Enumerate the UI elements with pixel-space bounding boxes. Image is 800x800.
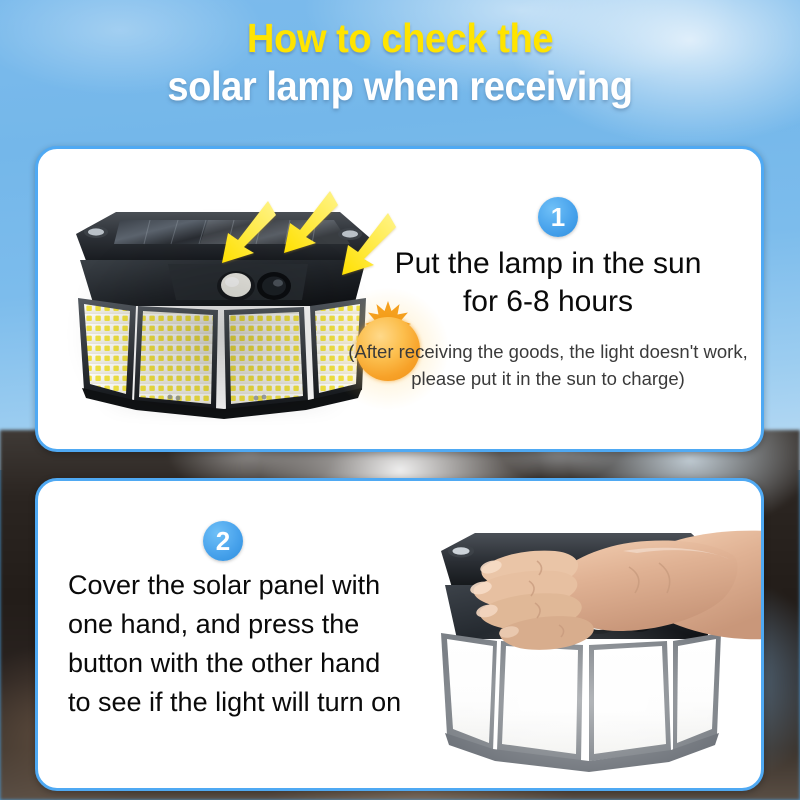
page-title: How to check the solar lamp when receivi… [0,18,800,108]
step-1-subtext: (After receiving the goods, the light do… [338,339,758,393]
step-2-badge: 2 [203,521,243,561]
step-1-panel: 1 Put the lamp in the sun for 6-8 hours … [35,146,764,452]
lamp-svg-lit-with-hand [423,521,761,788]
step-2-heading: Cover the solar panel with one hand, and… [68,566,408,723]
solar-lamp-illustration-step2 [423,521,761,788]
step-1-badge: 1 [538,197,578,237]
step-2-panel: 2 Cover the solar panel with one hand, a… [35,478,764,791]
infographic-stage: How to check the solar lamp when receivi… [0,0,800,800]
title-line-one: How to check the [28,18,772,60]
step-1-panel-inner: 1 Put the lamp in the sun for 6-8 hours … [38,149,761,449]
panel2-top-fade [38,481,761,503]
step-1-heading: Put the lamp in the sun for 6-8 hours [383,245,713,322]
step-2-panel-inner: 2 Cover the solar panel with one hand, a… [38,481,761,788]
title-line-two: solar lamp when receiving [28,66,772,108]
